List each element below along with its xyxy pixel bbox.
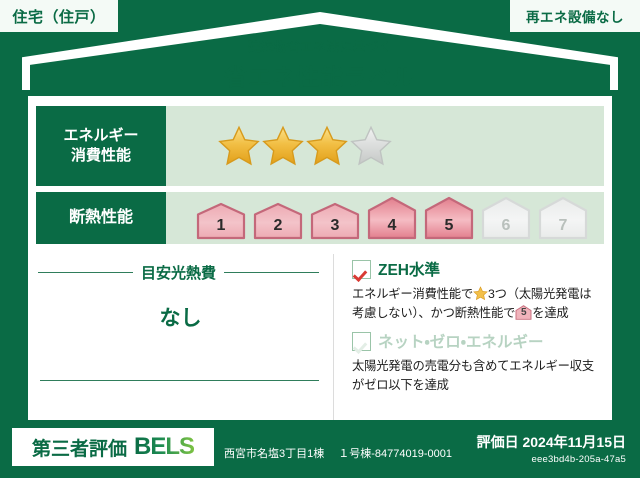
insulation-grade-value: 1 <box>194 217 248 235</box>
zeh-block: ZEH水準 エネルギー消費性能で3つ（太陽光発電は考慮しない）、かつ断熱性能で5… <box>352 258 602 323</box>
building-number: １号棟-84774019-0001 <box>338 448 452 460</box>
insulation-grade-value: 6 <box>479 217 533 235</box>
zeh-title: ZEH水準 <box>378 258 440 280</box>
renewable-equipment-tag: 再エネ設備なし <box>510 0 640 32</box>
energy-label-line2: 消費性能 <box>71 146 131 166</box>
evaluation-date: 評価日 2024年11月15日 <box>477 432 626 452</box>
bels-logo-jp: 第三者評価 <box>32 434 127 461</box>
label-title: 省エネ性能ラベル <box>0 58 640 92</box>
heading-rule-right <box>224 272 319 273</box>
net-zero-title: ネット・ゼロ・エネルギー <box>378 330 544 352</box>
net-zero-description: 太陽光発電の売電分も含めてエネルギー収支がゼロ以下を達成 <box>352 357 602 395</box>
bels-logo-en: BELS <box>134 433 194 461</box>
insulation-grade-badge: 4 <box>365 196 419 240</box>
star-rating <box>218 125 392 167</box>
energy-performance-label: エネルギー 消費性能 <box>36 106 166 186</box>
zeh-checkbox-icon <box>352 260 371 279</box>
net-zero-checkbox-icon <box>352 332 371 351</box>
zeh-description: エネルギー消費性能で3つ（太陽光発電は考慮しない）、かつ断熱性能で5を達成 <box>352 285 602 323</box>
label-body-card: エネルギー 消費性能 断熱性能 1234567 目安光熱費 なし <box>28 96 612 420</box>
property-address: 西宮市名塩3丁目1棟１号棟-84774019-0001 <box>224 445 452 461</box>
insulation-grade-value: 5 <box>422 217 476 235</box>
label-title-block: 建築物省エネ法に基づく 省エネ性能ラベル <box>0 36 640 92</box>
net-zero-heading: ネット・ゼロ・エネルギー <box>352 330 602 352</box>
insulation-grade-value: 2 <box>251 217 305 235</box>
address-text: 西宮市名塩3丁目1棟 <box>224 448 324 460</box>
bels-logo: 第三者評価 BELS <box>12 428 214 466</box>
evaluation-date-label: 評価日 <box>477 434 519 450</box>
evaluation-date-block: 評価日 2024年11月15日 eee3bd4b-205a-47a5 <box>477 432 626 465</box>
net-zero-energy-block: ネット・ゼロ・エネルギー 太陽光発電の売電分も含めてエネルギー収支がゼロ以下を達… <box>352 330 602 395</box>
utility-cost-bottom-rule <box>40 380 319 381</box>
inline-star-icon <box>473 286 488 301</box>
heading-rule-left <box>38 272 133 273</box>
star-empty-icon <box>350 125 392 167</box>
inline-grade-badge: 5 <box>515 305 532 320</box>
insulation-grade-value: 3 <box>308 217 362 235</box>
utility-cost-heading: 目安光熱費 <box>38 262 319 283</box>
energy-performance-label: 住宅（住戸） 再エネ設備なし 建築物省エネ法に基づく 省エネ性能ラベル エネルギ… <box>0 0 640 478</box>
zeh-heading: ZEH水準 <box>352 258 602 280</box>
estimated-utility-cost-panel: 目安光熱費 なし <box>28 254 333 420</box>
insulation-performance-row: 断熱性能 1234567 <box>36 192 604 244</box>
label-subtitle: 建築物省エネ法に基づく <box>0 36 640 55</box>
star-filled-icon <box>218 125 260 167</box>
insulation-grade-scale: 1234567 <box>194 196 590 240</box>
insulation-grade-badge: 7 <box>536 196 590 240</box>
insulation-grade-value: 7 <box>536 217 590 235</box>
insulation-grade-badge: 6 <box>479 196 533 240</box>
insulation-grade-value: 4 <box>365 217 419 235</box>
label-uuid: eee3bd4b-205a-47a5 <box>477 454 626 465</box>
insulation-grade-badge: 1 <box>194 202 248 240</box>
insulation-grade-badge: 2 <box>251 202 305 240</box>
energy-performance-value <box>166 106 604 186</box>
utility-cost-heading-text: 目安光熱費 <box>141 262 216 283</box>
star-filled-icon <box>262 125 304 167</box>
building-type-tag: 住宅（住戸） <box>0 0 118 32</box>
insulation-performance-value: 1234567 <box>166 192 604 244</box>
lower-section: 目安光熱費 なし ZEH水準 エネルギー消費性能で3つ（太陽光発電は考慮しない）… <box>28 254 612 420</box>
criteria-panel: ZEH水準 エネルギー消費性能で3つ（太陽光発電は考慮しない）、かつ断熱性能で5… <box>333 254 612 420</box>
insulation-performance-label: 断熱性能 <box>36 192 166 244</box>
star-filled-icon <box>306 125 348 167</box>
inline-grade-badge-value: 5 <box>515 305 532 321</box>
insulation-grade-badge: 3 <box>308 202 362 240</box>
label-footer: 第三者評価 BELS 西宮市名塩3丁目1棟１号棟-84774019-0001 評… <box>0 420 640 478</box>
insulation-grade-badge: 5 <box>422 196 476 240</box>
zeh-desc-part1: エネルギー消費性能で <box>352 287 473 301</box>
energy-label-line1: エネルギー <box>63 126 138 146</box>
utility-cost-value: なし <box>28 302 333 332</box>
zeh-desc-part3: を達成 <box>532 306 568 320</box>
energy-performance-row: エネルギー 消費性能 <box>36 106 604 186</box>
evaluation-date-value: 2024年11月15日 <box>522 434 626 450</box>
